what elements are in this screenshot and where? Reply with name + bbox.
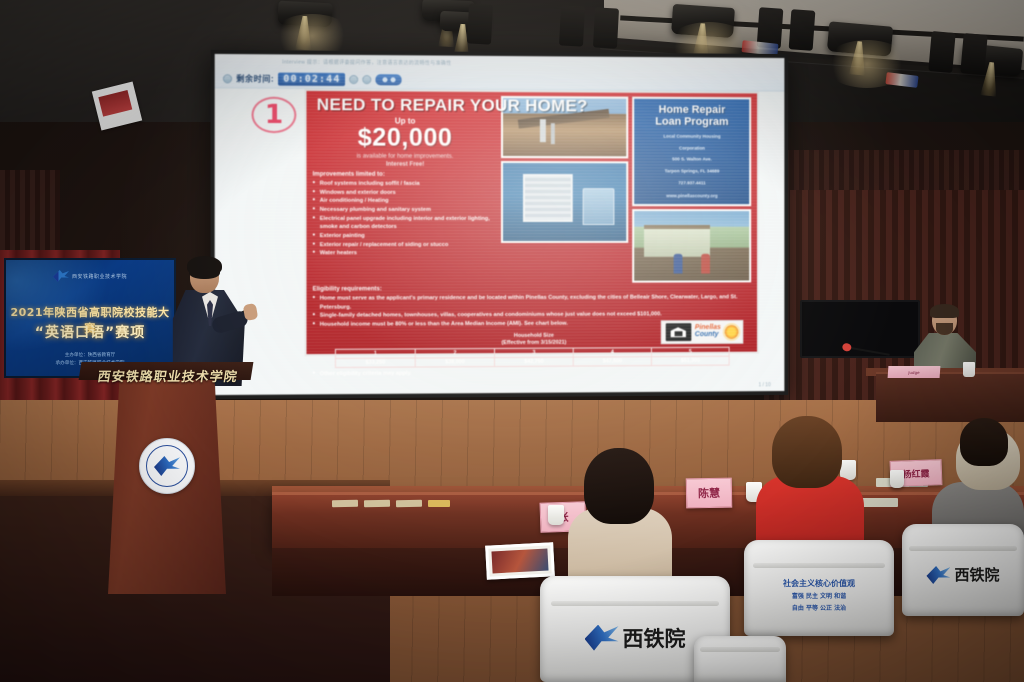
podium-nameplate: 西安铁路职业技术学院 (82, 364, 253, 386)
stage-lamp-1 (277, 1, 332, 28)
exterior-person-1 (674, 254, 683, 274)
audience-member-4 (952, 418, 1012, 488)
table-caption-line1: Household Size (514, 332, 554, 338)
table-cell: 2 (415, 349, 494, 358)
flyer-logo-row: Pinellas County (660, 320, 743, 344)
spotlight-fixture-3 (593, 7, 619, 48)
improvements-label: Improvements limited to: (313, 172, 497, 178)
list-item: Air conditioning / Heating (313, 197, 497, 206)
chair-cover-2: 社会主义核心价值观 富强 民主 文明 和谐 自由 平等 公正 法治 (744, 540, 894, 636)
available-line: is available for home improvements. (313, 153, 497, 160)
chair-cover-2-content: 社会主义核心价值观 富强 民主 文明 和谐 自由 平等 公正 法治 (744, 578, 894, 614)
program-org-line3: 500 S. Walton Ave. (638, 157, 745, 164)
county-name-2: County (695, 331, 719, 338)
list-item: Exterior painting (313, 232, 497, 241)
ceiling-flag-2 (885, 72, 918, 88)
chair-cover-3-content: 西铁院 (902, 564, 1024, 585)
school-swoosh-icon (926, 566, 950, 584)
spotlight-fixture-5 (789, 9, 816, 51)
chip-dot-left (382, 77, 387, 82)
exterior-person-2 (701, 254, 710, 274)
projection-screen: Interview 提示：请根据评委提问作答，注意语言表达的流畅性与准确性 剩余… (215, 54, 785, 395)
table-cell: $42,750 (495, 357, 574, 366)
podium-seal (139, 438, 195, 494)
audience-1-hair (584, 448, 654, 524)
projection-screen-frame: Interview 提示：请根据评委提问作答，注意语言表达的流畅性与准确性 剩余… (211, 50, 789, 399)
judge-beard (936, 323, 953, 335)
slide-page-mark: 1 / 10 (758, 382, 770, 388)
audience-4-hair (960, 418, 1008, 466)
countdown-timer: 00:02:44 (278, 72, 345, 86)
status-chip[interactable] (376, 74, 402, 85)
program-info-box: Home Repair Loan Program Local Community… (633, 97, 752, 207)
spotlight-fixture-6 (928, 31, 955, 73)
program-org-line4: Tarpon Springs, FL 34689 (638, 169, 745, 176)
led-banner-host: 主办单位：陕西省教育厅 (65, 353, 116, 358)
flyer-photo-column (501, 96, 629, 283)
event-led-banner: 西安铁路职业技术学院 2021年陕西省高职院校技能大赛 “英语口语”赛项 主办单… (4, 258, 176, 378)
judge-water-cup (963, 362, 975, 377)
led-banner-logo: 西安铁路职业技术学院 (53, 270, 127, 282)
chair-cover-2-line3: 自由 平等 公正 法治 (792, 605, 846, 612)
judge-desk (876, 372, 1024, 422)
flyer-left-column: Up to $20,000 is available for home impr… (313, 95, 497, 284)
chair-cover-2-line2: 富强 民主 文明 和谐 (792, 593, 846, 600)
presenter-hair (187, 256, 222, 276)
spotlight-fixture-1 (467, 3, 493, 44)
table-paper-3 (396, 500, 422, 507)
table-cell: 3 (495, 348, 574, 357)
chair-cover-4 (694, 636, 786, 682)
table-row-incomes: $33,250 $38,000 $42,750 $47,500 $51,300 (335, 357, 729, 368)
table-cell: 4 (573, 348, 651, 357)
table-cell: $38,000 (415, 358, 494, 367)
program-title-line1: Home Repair (638, 104, 745, 117)
final-note: Other eligibility criteria may apply. (313, 369, 752, 378)
list-item: Home must serve as the applicant's prima… (313, 293, 752, 312)
table-paper-1 (332, 500, 358, 507)
timer-label: 剩余时间: (236, 73, 274, 84)
chair-cover-1-label: 西铁院 (623, 623, 686, 653)
chip-dot-right (390, 77, 395, 82)
chair-cover-3: 西铁院 (902, 524, 1024, 616)
county-logo-text: Pinellas County (695, 325, 721, 338)
program-phone: 727.937.4411 (638, 180, 745, 187)
spotlight-fixture-7 (960, 33, 987, 75)
school-swoosh-icon (585, 625, 619, 651)
program-url: www.pinellascounty.org (638, 193, 745, 198)
photo-porch-window (501, 161, 629, 243)
water-cup-1 (548, 505, 564, 525)
judge-name-card: Judge (888, 366, 941, 378)
play-icon[interactable] (349, 75, 358, 84)
stage-lamp-3 (671, 4, 735, 38)
water-cup-4 (890, 470, 904, 488)
slide-flyer: NEED TO REPAIR YOUR HOME? Up to $20,000 … (304, 89, 759, 356)
lectern-podium (108, 372, 226, 594)
program-org-line1: Local Community Housing (638, 133, 745, 140)
exterior-house-shape (644, 225, 711, 257)
conference-hall-scene: Interview 提示：请根据评委提问作答，注意语言表达的流畅性与准确性 剩余… (0, 0, 1024, 682)
table-caption-line2: (Effective from 3/15/2021) (501, 340, 566, 346)
led-banner-org: 西安铁路职业技术学院 (72, 273, 127, 280)
audience-2-hair (772, 416, 842, 488)
judge-hair (930, 304, 959, 318)
program-title-line2: Loan Program (638, 116, 745, 129)
spotlight-fixture-2 (559, 5, 585, 46)
table-cell: 5 (651, 348, 729, 357)
pause-icon[interactable] (363, 75, 372, 84)
name-card-2: 陈慧 (686, 478, 733, 509)
prev-icon[interactable] (223, 74, 232, 83)
table-paper-4 (428, 500, 450, 507)
table-cell: $47,500 (573, 357, 651, 366)
list-item: Necessary plumbing and sanitary system (313, 206, 497, 215)
photo-exterior-house (633, 209, 752, 283)
school-swoosh-icon (154, 456, 180, 476)
list-item: Roof systems including soffit / fascia (313, 180, 497, 189)
app-bar-controls[interactable]: 剩余时间: 00:02:44 (215, 68, 785, 92)
table-cell: 1 (335, 349, 415, 358)
porch-window-shape (523, 174, 573, 222)
chair-cover-3-label: 西铁院 (954, 564, 999, 585)
school-swoosh-icon (53, 270, 69, 282)
program-org-line2: Corporation (638, 145, 745, 152)
table-photo-frame (485, 542, 555, 580)
flyer-upper-row: Up to $20,000 is available for home impr… (313, 95, 752, 284)
interest-free-line: Interest Free! (313, 161, 497, 167)
table-cell: $33,250 (335, 358, 415, 368)
app-bar-hint-text: Interview 提示：请根据评委提问作答，注意语言表达的流畅性与准确性 (282, 58, 451, 66)
presenter-hand (243, 303, 259, 321)
podium-seal-inner (146, 445, 188, 487)
stage-lamp-4 (827, 21, 893, 56)
table-cell: $51,300 (651, 357, 729, 366)
amount-value: $20,000 (313, 125, 497, 151)
slide-number-annotation: 1 (252, 97, 297, 134)
sun-icon (725, 325, 739, 339)
slide-headline: NEED TO REPAIR YOUR HOME? (317, 96, 588, 114)
meeting-app-toolbar[interactable]: Interview 提示：请根据评委提问作答，注意语言表达的流畅性与准确性 剩余… (215, 54, 785, 92)
improvements-list: Roof systems including soffit / fascia W… (313, 180, 497, 259)
chair-cover-2-line1: 社会主义核心价值观 (783, 579, 855, 588)
equal-housing-opportunity-icon (665, 323, 691, 341)
table-paper-2 (364, 500, 390, 507)
list-item: Windows and exterior doors (313, 188, 497, 197)
list-item: Electrical panel upgrade including inter… (313, 215, 497, 232)
list-item: Water heaters (313, 249, 497, 258)
audience-member-1 (566, 448, 676, 578)
eligibility-label: Eligibility requirements: (313, 285, 752, 292)
porch-chair-shape (582, 188, 614, 225)
list-item: Exterior repair / replacement of siding … (313, 241, 497, 250)
flyer-right-column: Home Repair Loan Program Local Community… (633, 97, 752, 283)
audience-member-2 (756, 416, 866, 556)
led-banner-subtitle: “英语口语”赛项 (6, 322, 174, 342)
